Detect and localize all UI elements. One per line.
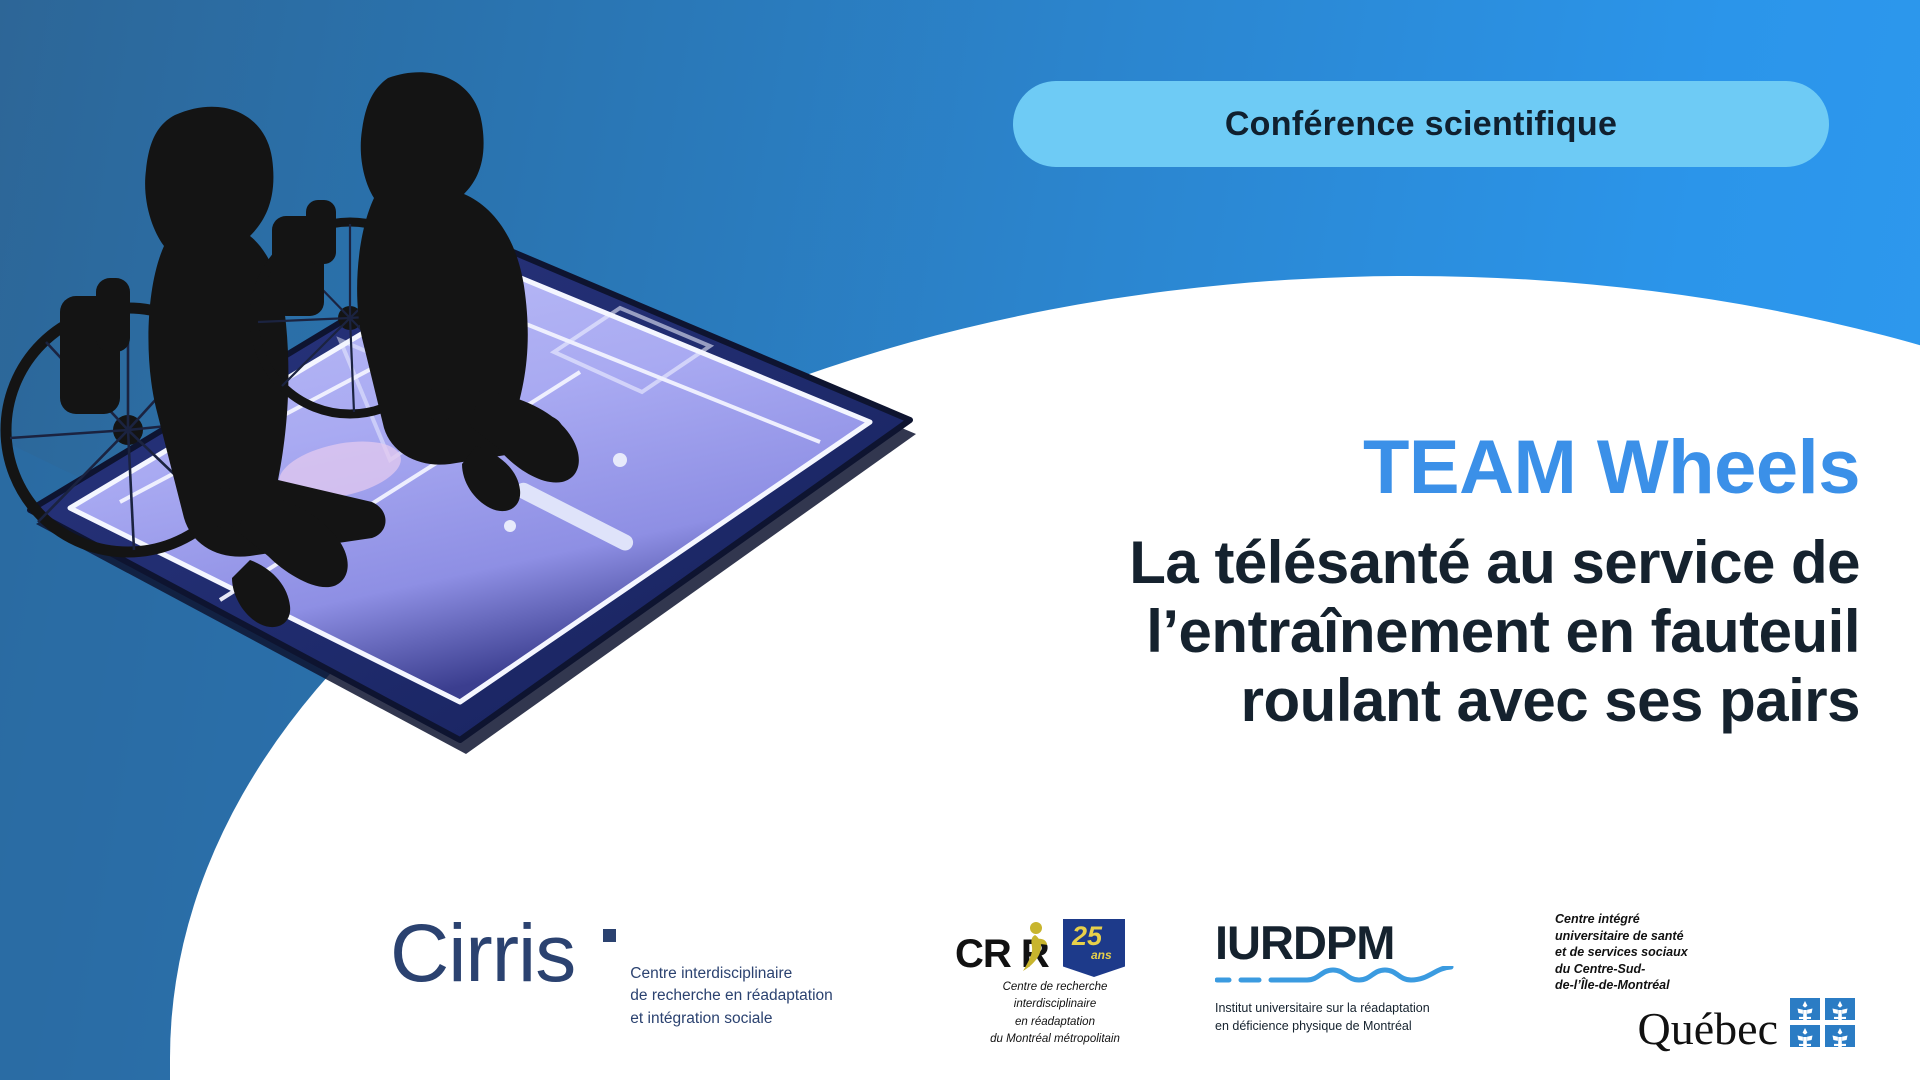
quebec-tagline: Centre intégré universitaire de santé et… <box>1555 911 1855 994</box>
title-block: TEAM Wheels La télésanté au service de l… <box>820 430 1860 735</box>
subtitle-line-2: l’entraînement en fauteuil <box>820 597 1860 666</box>
logo-iurdpm: IURDPM Institut universitaire sur la réa… <box>1215 919 1465 1035</box>
project-subtitle: La télésanté au service de l’entraînemen… <box>820 528 1860 735</box>
partner-logos: Cirris Centre interdisciplinaire de rech… <box>390 905 1850 1055</box>
fleur-de-lis-icon-4 <box>1825 1025 1855 1047</box>
crir-tagline-line-1: Centre de recherche <box>955 979 1155 996</box>
crir-tagline-line-2: interdisciplinaire <box>955 996 1155 1013</box>
subtitle-line-3: roulant avec ses pairs <box>820 666 1860 735</box>
logo-crir: CR R 25 ans Centre de recherche interdis… <box>955 927 1155 1048</box>
crir-anniversary-badge: 25 ans <box>1063 919 1125 977</box>
crir-anniversary-unit: ans <box>1091 948 1112 962</box>
quebec-flag-icon <box>1790 998 1855 1047</box>
conference-badge: Conférence scientifique <box>1013 81 1829 167</box>
quebec-signature: Québec <box>1555 998 1855 1051</box>
cirris-tagline-line-2: de recherche en réadaptation <box>630 985 833 1007</box>
quebec-wordmark: Québec <box>1638 1007 1778 1051</box>
cirris-tagline-line-3: et intégration sociale <box>630 1008 833 1030</box>
quebec-tagline-line-3: et de services sociaux <box>1555 944 1855 961</box>
iurdpm-wave-icon <box>1215 966 1455 988</box>
cirris-tagline: Centre interdisciplinaire de recherche e… <box>630 963 833 1030</box>
conference-badge-label: Conférence scientifique <box>1225 105 1617 144</box>
crir-tagline-line-3: en réadaptation <box>955 1014 1155 1031</box>
quebec-tagline-line-5: de-l’Île-de-Montréal <box>1555 977 1855 994</box>
fleur-de-lis-icon-3 <box>1790 1025 1820 1047</box>
fleur-de-lis-icon-2 <box>1825 998 1855 1020</box>
quebec-tagline-line-1: Centre intégré <box>1555 911 1855 928</box>
fleur-de-lis-icon-1 <box>1790 998 1820 1020</box>
quebec-tagline-line-4: du Centre-Sud- <box>1555 961 1855 978</box>
crir-person-icon <box>1019 921 1049 973</box>
logo-cirris: Cirris Centre interdisciplinaire de rech… <box>390 915 833 1030</box>
crir-mark: CR R 25 ans <box>955 927 1155 977</box>
iurdpm-tagline: Institut universitaire sur la réadaptati… <box>1215 999 1465 1035</box>
project-title: TEAM Wheels <box>820 430 1860 506</box>
cirris-dot-icon <box>603 929 616 942</box>
logo-quebec: Centre intégré universitaire de santé et… <box>1555 911 1855 1051</box>
quebec-tagline-line-2: universitaire de santé <box>1555 928 1855 945</box>
iurdpm-tagline-line-2: en déficience physique de Montréal <box>1215 1017 1465 1035</box>
poster-canvas: Conférence scientifique TEAM Wheels La t… <box>0 0 1920 1080</box>
iurdpm-wordmark: IURDPM <box>1215 919 1465 966</box>
crir-tagline: Centre de recherche interdisciplinaire e… <box>955 979 1155 1048</box>
iurdpm-tagline-line-1: Institut universitaire sur la réadaptati… <box>1215 999 1465 1017</box>
cirris-tagline-line-1: Centre interdisciplinaire <box>630 963 833 985</box>
subtitle-line-1: La télésanté au service de <box>820 528 1860 597</box>
crir-tagline-line-4: du Montréal métropolitain <box>955 1031 1155 1048</box>
cirris-wordmark: Cirris <box>390 915 575 993</box>
tablet-sensor-dot <box>504 520 516 532</box>
tablet-camera-dot <box>613 453 627 467</box>
